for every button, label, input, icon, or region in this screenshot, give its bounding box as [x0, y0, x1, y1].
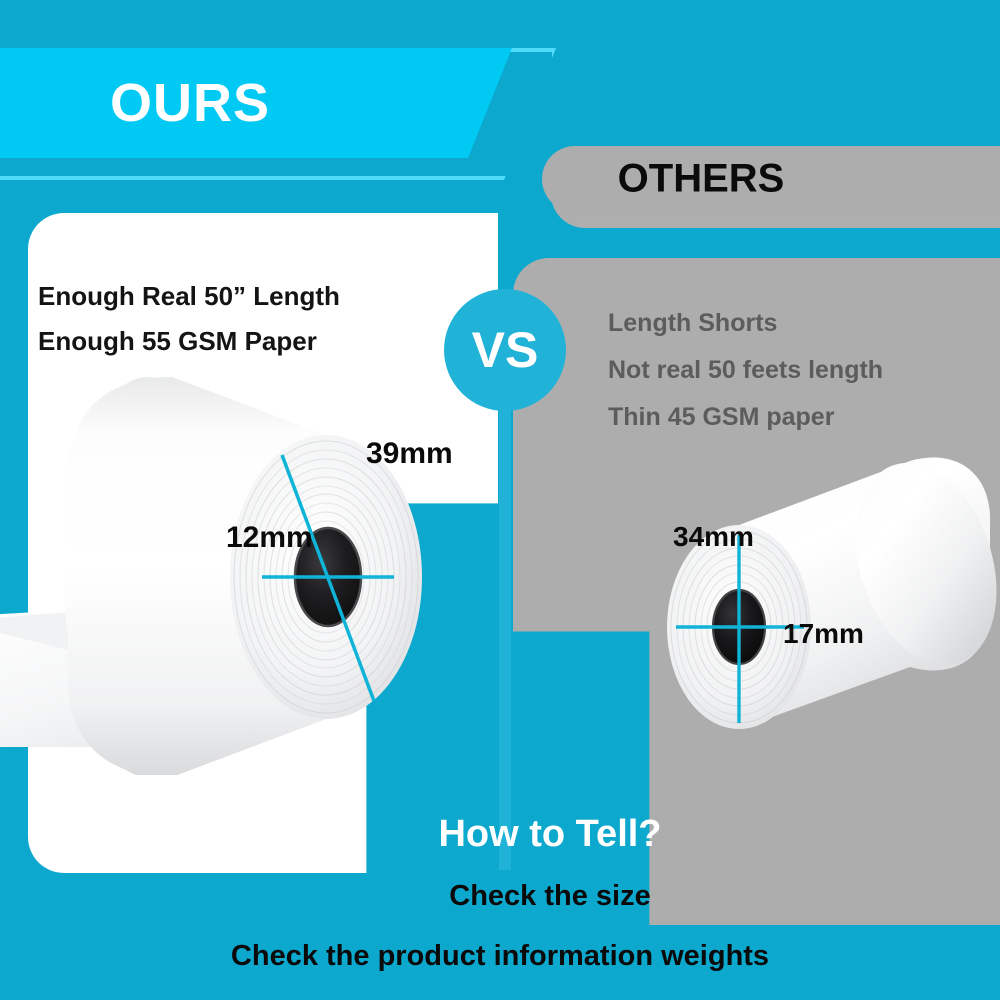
others-outer-diameter-label: 34mm: [673, 521, 754, 553]
paper-roll-icon-small: [660, 455, 1000, 750]
others-banner: OTHERS: [542, 146, 1000, 212]
vs-connector-line: [499, 350, 511, 870]
ours-feature-list: Enough Real 50” Length Enough 55 GSM Pap…: [38, 274, 458, 364]
others-feature-item: Length Shorts: [608, 300, 988, 347]
ours-outer-diameter-label: 39mm: [366, 437, 453, 471]
how-to-tell-heading: How to Tell?: [0, 813, 1000, 856]
others-feature-list: Length Shorts Not real 50 feets length T…: [608, 300, 988, 441]
tip-check-weights: Check the product information weights: [0, 940, 1000, 973]
paper-roll-icon-large: [0, 355, 510, 775]
ours-core-diameter-label: 12mm: [226, 521, 313, 555]
ours-banner: OURS: [0, 48, 512, 158]
ours-feature-item: Enough Real 50” Length: [38, 274, 458, 319]
ours-banner-label: OURS: [110, 72, 270, 134]
others-feature-item: Not real 50 feets length: [608, 347, 988, 394]
others-core-diameter-label: 17mm: [783, 618, 864, 650]
tip-check-size: Check the size: [0, 880, 1000, 913]
vs-badge: VS: [444, 289, 566, 411]
others-feature-item: Thin 45 GSM paper: [608, 394, 988, 441]
infographic-canvas: OURS OTHERS Enough Real 50” Length Enoug…: [0, 0, 1000, 1000]
vs-label: VS: [472, 321, 539, 379]
others-banner-label: OTHERS: [542, 157, 1000, 202]
